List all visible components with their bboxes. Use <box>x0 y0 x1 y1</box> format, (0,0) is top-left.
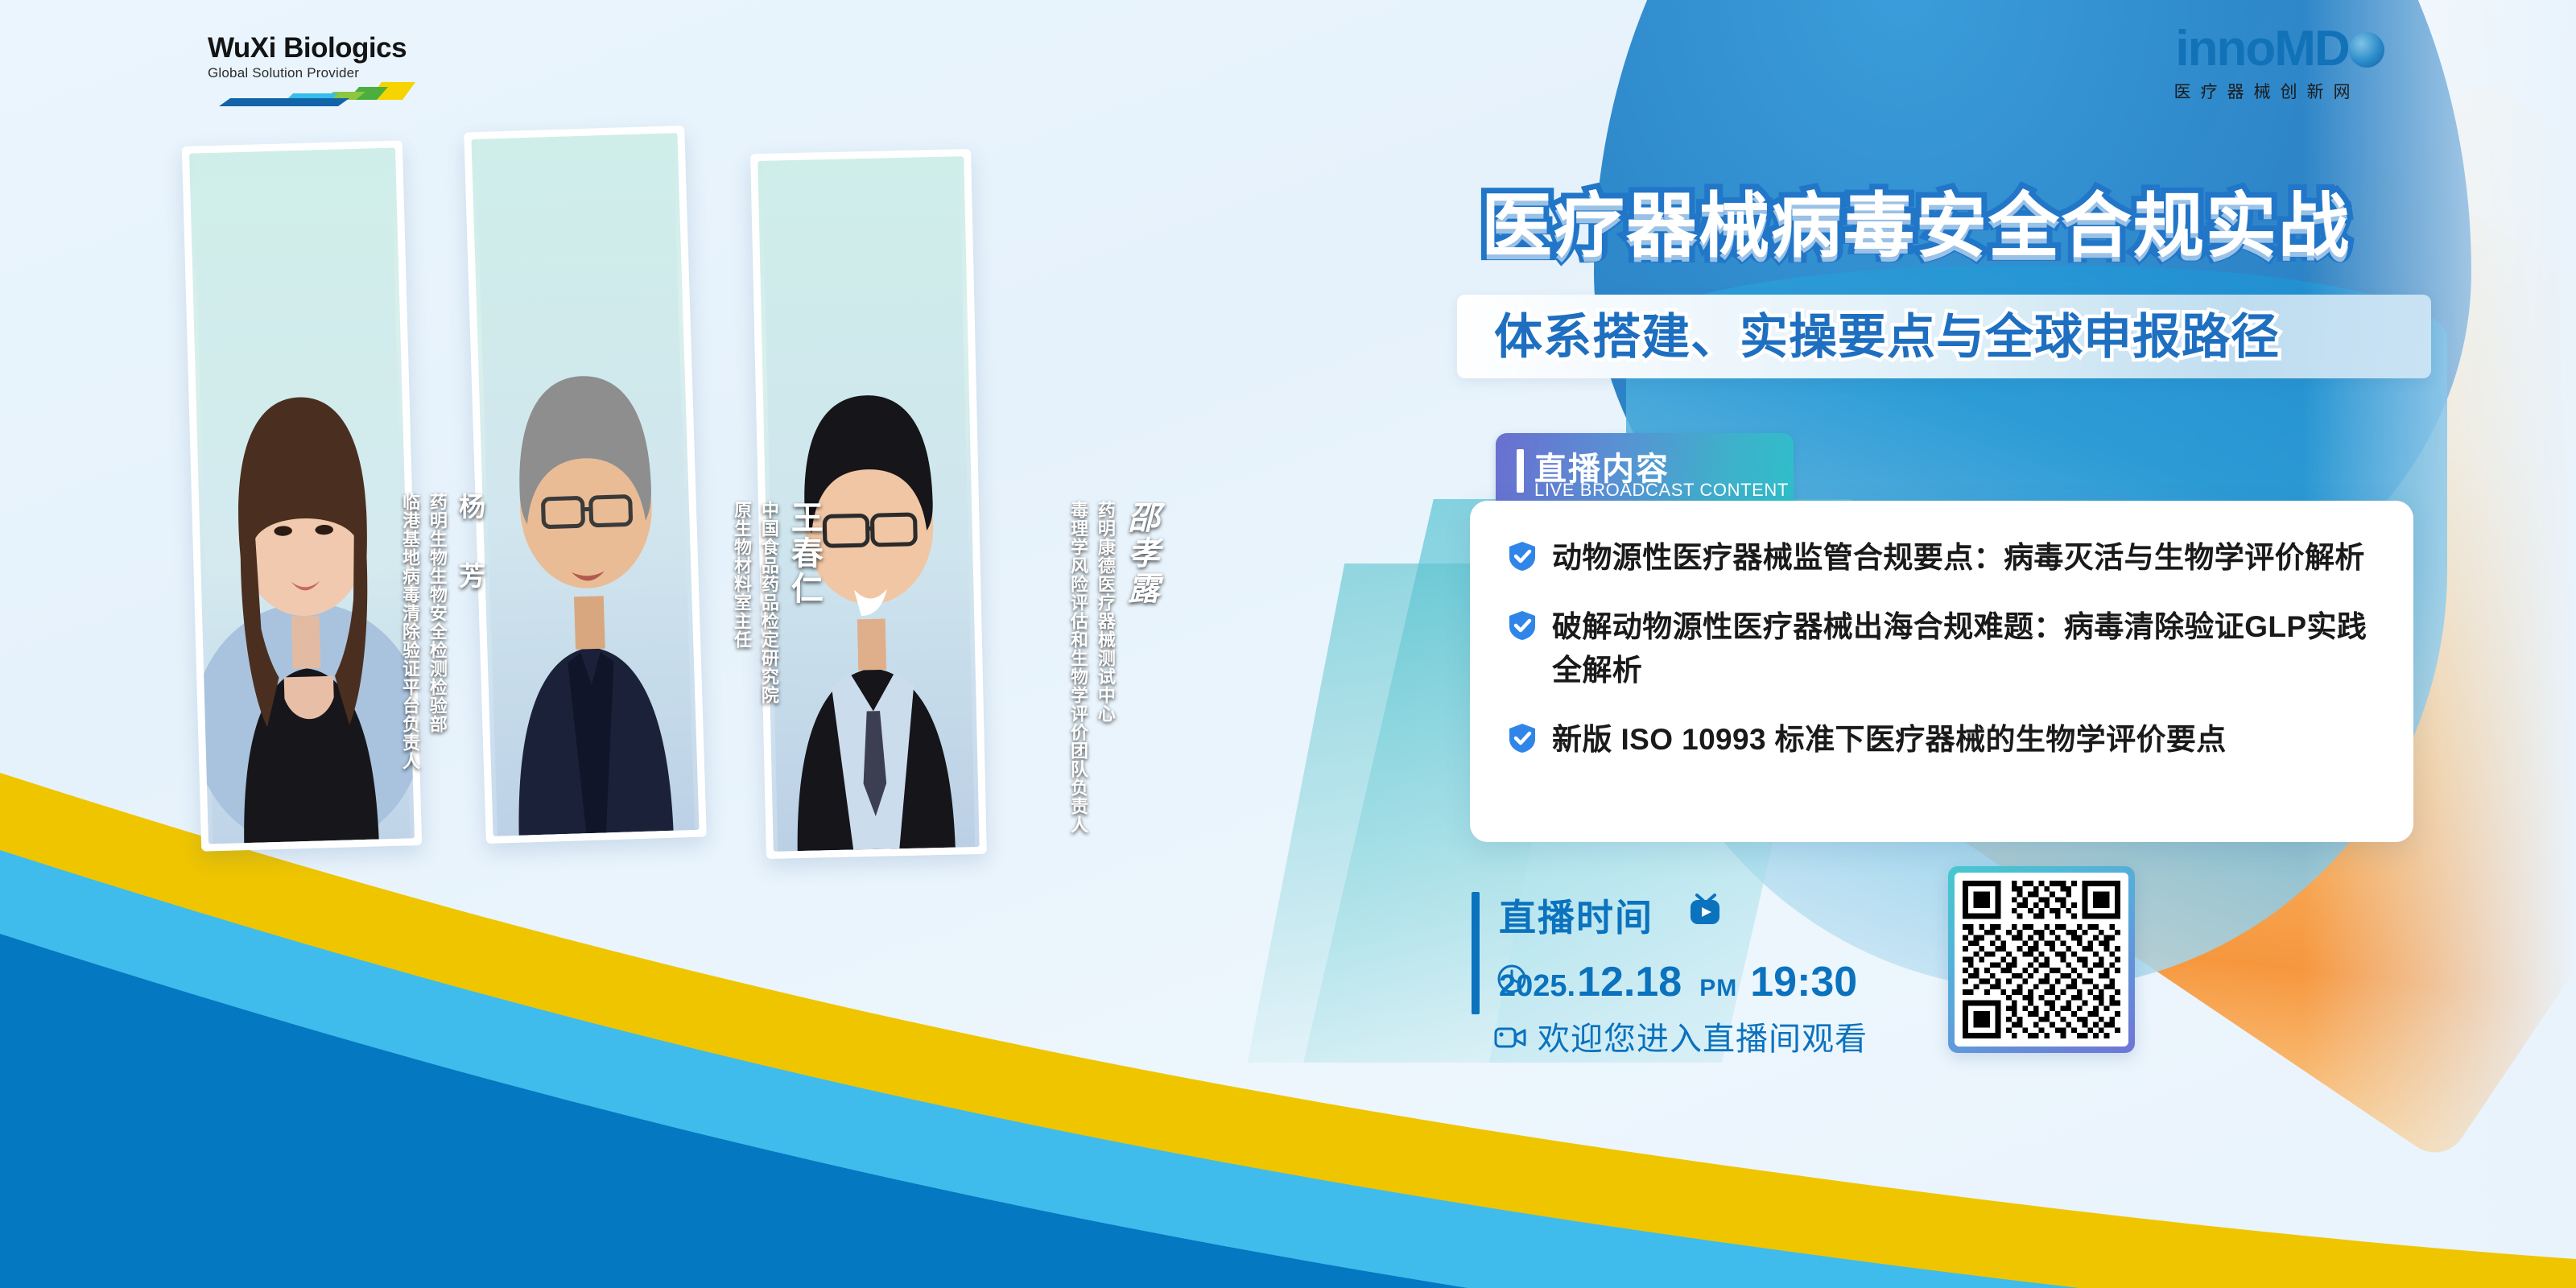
subtitle-text: 体系搭建、实操要点与全球申报路径 <box>1494 304 2412 370</box>
check-shield-icon <box>1507 723 1538 753</box>
speaker-text-3: 邵孝露 药明康德医疗器械测试中心 毒理学风险评估和生物学评价团队负责人 <box>1061 501 1158 834</box>
schedule-date: 12.18 <box>1577 958 1682 1006</box>
wuxi-logo-name: WuXi Biologics <box>208 34 449 62</box>
wuxi-biologics-logo: WuXi Biologics Global Solution Provider <box>208 34 449 101</box>
speaker-photo-1 <box>189 148 415 844</box>
promo-banner: WuXi Biologics Global Solution Provider … <box>0 0 2576 1288</box>
schedule-welcome-text: 欢迎您进入直播间观看 <box>1538 1013 1868 1059</box>
main-title: 医疗器械病毒安全合规实战 <box>1481 179 2431 275</box>
innomd-logo-cn-name: 医疗器械创新网 <box>2117 79 2407 103</box>
schedule-ampm: PM <box>1699 975 1737 1002</box>
speaker-text-1: 杨 芳 药明生物生物安全检测检验部 临港基地病毒清除验证平台负责人 <box>393 493 484 770</box>
speaker-role-1: 临港基地病毒清除验证平台负责人 <box>399 493 420 770</box>
list-item: 新版 ISO 10993 标准下医疗器械的生物学评价要点 <box>1507 718 2376 762</box>
schedule-accent-bar <box>1472 892 1480 1014</box>
wuxi-logo-stripes <box>216 82 441 106</box>
qr-code[interactable] <box>1948 866 2135 1053</box>
speaker-role-3: 毒理学风险评估和生物学评价团队负责人 <box>1067 501 1088 834</box>
speaker-card-2 <box>464 126 707 844</box>
speaker-photo-2 <box>471 133 699 836</box>
speaker-name-1: 杨 芳 <box>456 493 484 606</box>
list-item-text: 动物源性医疗器械监管合规要点：病毒灭活与生物学评价解析 <box>1552 536 2365 580</box>
schedule-year: 2025. <box>1499 969 1575 1004</box>
tv-play-icon <box>1682 885 1728 931</box>
check-shield-icon <box>1507 541 1538 572</box>
list-item: 破解动物源性医疗器械出海合规难题：病毒清除验证GLP实践全解析 <box>1507 605 2376 692</box>
check-shield-icon <box>1507 610 1538 641</box>
speaker-card-1 <box>182 140 422 851</box>
schedule-datetime: 2025. 12.18 PM 19:30 <box>1499 958 1857 1006</box>
globe-icon <box>2349 32 2384 68</box>
list-item: 动物源性医疗器械监管合规要点：病毒灭活与生物学评价解析 <box>1507 536 2376 580</box>
main-title-text: 医疗器械病毒安全合规实战 <box>1481 186 2351 266</box>
video-camera-icon <box>1494 1024 1528 1051</box>
qr-code-image <box>1955 873 2128 1046</box>
speaker-org-2: 中国食品药品检定研究院 <box>758 501 779 704</box>
speaker-text-2: 王春仁 中国食品药品检定研究院 原生物材料室主任 <box>724 501 821 704</box>
schedule-time: 19:30 <box>1750 958 1857 1006</box>
wuxi-logo-tagline: Global Solution Provider <box>208 65 449 81</box>
live-content-list: 动物源性医疗器械监管合规要点：病毒灭活与生物学评价解析 破解动物源性医疗器械出海… <box>1470 501 2413 842</box>
speaker-name-3: 邵孝露 <box>1124 501 1158 607</box>
live-content-heading-en: LIVE BROADCAST CONTENT <box>1534 480 1789 501</box>
speaker-name-2: 王春仁 <box>787 501 821 607</box>
live-content-accent-bar <box>1517 449 1524 493</box>
innomd-logo: innoMD 医疗器械创新网 <box>2117 23 2407 111</box>
schedule-label: 直播时间 <box>1499 889 1653 942</box>
speaker-org-3: 药明康德医疗器械测试中心 <box>1095 501 1116 723</box>
speaker-org-1: 药明生物生物安全检测检验部 <box>427 493 448 733</box>
speaker-role-2: 原生物材料室主任 <box>731 501 752 649</box>
list-item-text: 新版 ISO 10993 标准下医疗器械的生物学评价要点 <box>1552 718 2227 762</box>
list-item-text: 破解动物源性医疗器械出海合规难题：病毒清除验证GLP实践全解析 <box>1552 605 2376 692</box>
